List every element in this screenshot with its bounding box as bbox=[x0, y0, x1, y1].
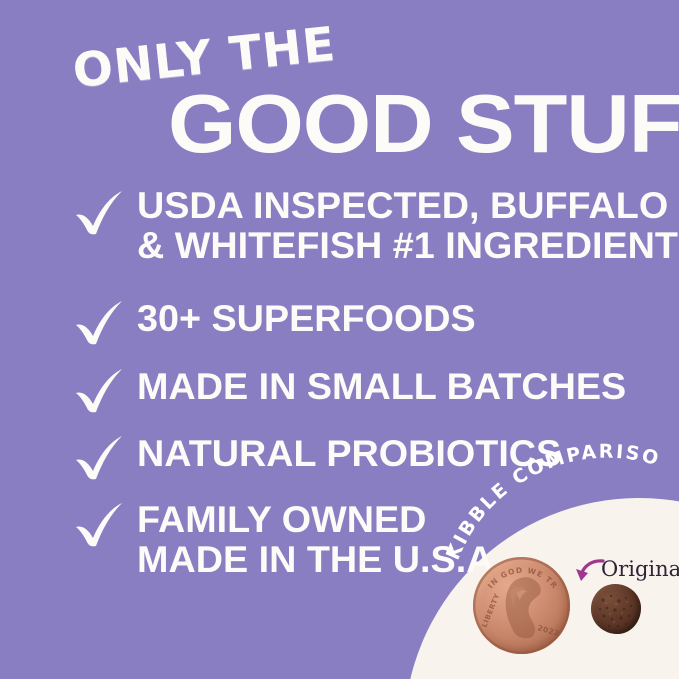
benefit-text-1: USDA INSPECTED, BUFFALO & WHITEFISH #1 I… bbox=[137, 186, 678, 265]
benefit-text-3: MADE IN SMALL BATCHES bbox=[137, 367, 626, 407]
benefit-line: MADE IN THE U.S.A bbox=[137, 540, 493, 580]
checkmark-icon bbox=[74, 502, 126, 548]
headline-line-2: GOOD STUFF: bbox=[168, 82, 679, 165]
svg-text:LIBERTY: LIBERTY bbox=[480, 592, 501, 629]
checkmark-icon bbox=[74, 300, 126, 346]
checkmark-icon bbox=[74, 190, 126, 236]
benefit-line: USDA INSPECTED, BUFFALO bbox=[137, 186, 678, 226]
promo-panel: ONLY THE GOOD STUFF: USDA INSPECTED, BUF… bbox=[0, 0, 679, 679]
benefit-line: MADE IN SMALL BATCHES bbox=[137, 367, 626, 407]
benefit-line: 30+ SUPERFOODS bbox=[137, 299, 476, 339]
kibble-comparison-heading: KIBBLE COMPARISON bbox=[452, 462, 679, 572]
benefit-text-5: FAMILY OWNED MADE IN THE U.S.A bbox=[137, 500, 493, 579]
kibble-label-original: Original bbox=[601, 557, 679, 581]
benefit-line: FAMILY OWNED bbox=[137, 500, 493, 540]
checkmark-icon bbox=[74, 368, 126, 414]
benefit-text-2: 30+ SUPERFOODS bbox=[137, 299, 476, 339]
checkmark-icon bbox=[74, 435, 126, 481]
penny-coin: IN GOD WE TRUST LIBERTY 2022 bbox=[473, 557, 570, 654]
svg-text:2022: 2022 bbox=[536, 623, 560, 638]
benefit-line: & WHITEFISH #1 INGREDIENT bbox=[137, 226, 678, 266]
